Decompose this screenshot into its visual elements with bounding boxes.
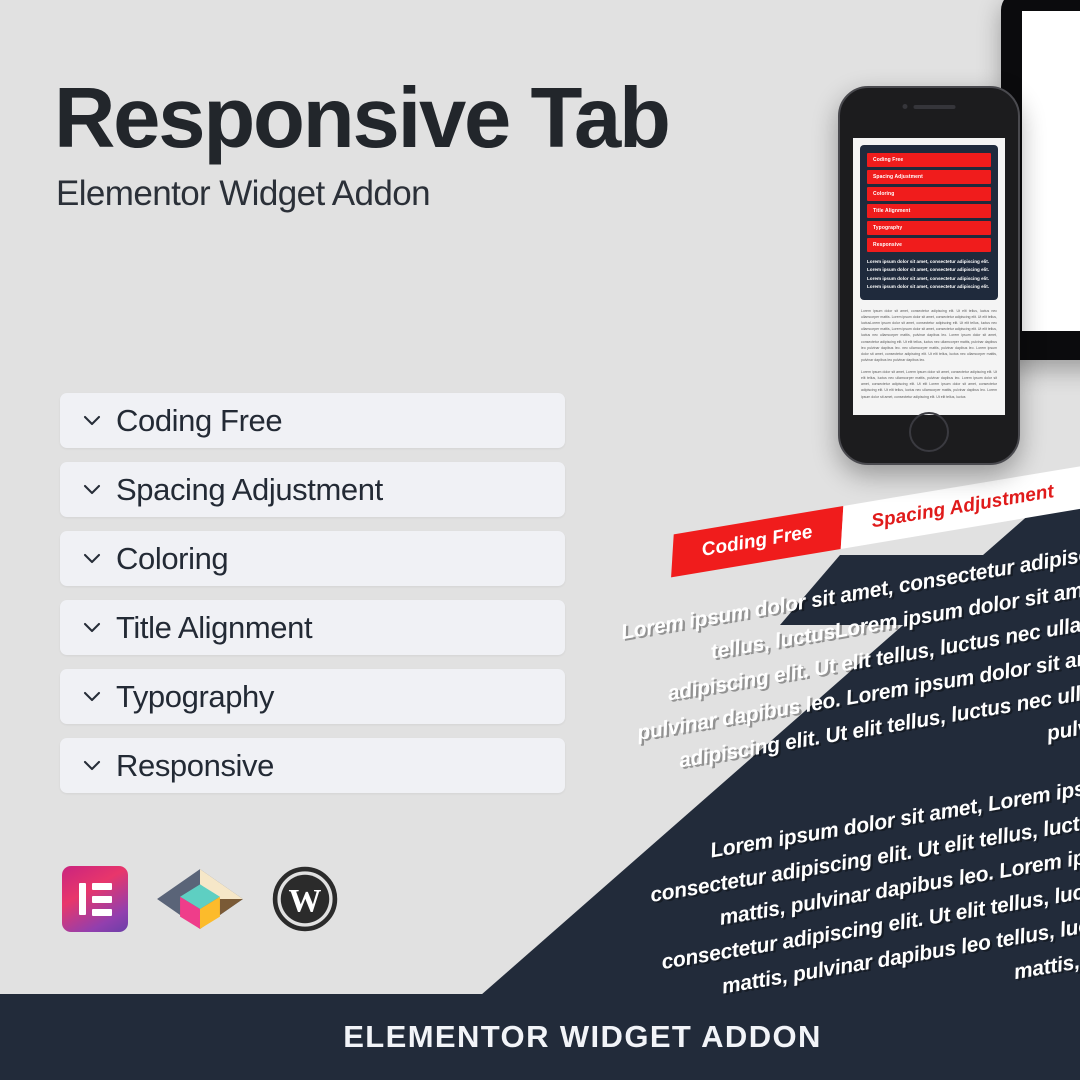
- phone-tab-card: Coding Free Spacing Adjustment Coloring …: [860, 145, 998, 300]
- brand-logo-row: W: [62, 866, 338, 932]
- accordion-item-label: Spacing Adjustment: [116, 472, 383, 508]
- tilted-tab-label: Coding Free: [700, 522, 814, 562]
- tablet-screen: [1022, 11, 1080, 331]
- phone-tab[interactable]: Spacing Adjustment: [867, 170, 991, 184]
- tilted-panel-body: Lorem ipsum dolor sit amet, consectetur …: [604, 513, 1080, 1047]
- footer-title: ELEMENTOR WIDGET ADDON: [0, 994, 1080, 1080]
- accordion-item-label: Responsive: [116, 748, 274, 784]
- elementor-logo: [62, 866, 128, 932]
- phone-paragraph: Lorem ipsum dolor sit amet, Lorem ipsum …: [861, 369, 997, 400]
- phone-camera-icon: [903, 104, 908, 109]
- phone-tab[interactable]: Typography: [867, 221, 991, 235]
- envato-logo: [154, 866, 246, 932]
- accordion-item-title-alignment[interactable]: Title Alignment: [60, 600, 565, 655]
- accordion-item-coding-free[interactable]: Coding Free: [60, 393, 565, 448]
- phone-mockup: Coding Free Spacing Adjustment Coloring …: [838, 86, 1020, 465]
- wordpress-logo: W: [272, 866, 338, 932]
- chevron-down-icon: [82, 687, 102, 707]
- tilted-tab-preview: Coding Free Spacing Adjustment Lorem ips…: [592, 442, 1080, 962]
- accordion-list: Coding Free Spacing Adjustment Coloring …: [60, 393, 565, 807]
- phone-paragraph: Lorem ipsum dolor sit amet, consectetur …: [861, 308, 997, 363]
- accordion-item-responsive[interactable]: Responsive: [60, 738, 565, 793]
- chevron-down-icon: [82, 756, 102, 776]
- chevron-down-icon: [82, 618, 102, 638]
- headline-block: Responsive Tab Elementor Widget Addon: [54, 76, 669, 214]
- accordion-item-label: Coding Free: [116, 403, 282, 439]
- phone-tab[interactable]: Coding Free: [867, 153, 991, 167]
- accordion-item-label: Title Alignment: [116, 610, 312, 646]
- phone-tab-panel-text: Lorem ipsum dolor sit amet, consectetur …: [867, 258, 991, 292]
- chevron-down-icon: [82, 549, 102, 569]
- elementor-mark: [79, 883, 112, 916]
- phone-speaker-assembly: [903, 104, 956, 109]
- phone-earpiece-grill: [914, 105, 956, 109]
- phone-tab[interactable]: Responsive: [867, 238, 991, 252]
- svg-text:W: W: [289, 883, 322, 919]
- poster-canvas: Responsive Tab Elementor Widget Addon Co…: [0, 0, 1080, 1080]
- phone-tab[interactable]: Coloring: [867, 187, 991, 201]
- accordion-item-typography[interactable]: Typography: [60, 669, 565, 724]
- accordion-item-label: Coloring: [116, 541, 228, 577]
- accordion-item-label: Typography: [116, 679, 274, 715]
- tilted-tab-spacing-adjustment[interactable]: Spacing Adjustment: [841, 466, 1080, 549]
- tilted-tab-coding-free[interactable]: Coding Free: [671, 506, 843, 577]
- phone-tab[interactable]: Title Alignment: [867, 204, 991, 218]
- chevron-down-icon: [82, 480, 102, 500]
- tilted-tab-label: Spacing Adjustment: [870, 481, 1056, 533]
- phone-home-button[interactable]: [909, 412, 949, 452]
- accordion-item-coloring[interactable]: Coloring: [60, 531, 565, 586]
- phone-screen: Coding Free Spacing Adjustment Coloring …: [853, 138, 1005, 415]
- page-subtitle: Elementor Widget Addon: [56, 175, 669, 214]
- page-title: Responsive Tab: [54, 76, 669, 161]
- chevron-down-icon: [82, 411, 102, 431]
- accordion-item-spacing-adjustment[interactable]: Spacing Adjustment: [60, 462, 565, 517]
